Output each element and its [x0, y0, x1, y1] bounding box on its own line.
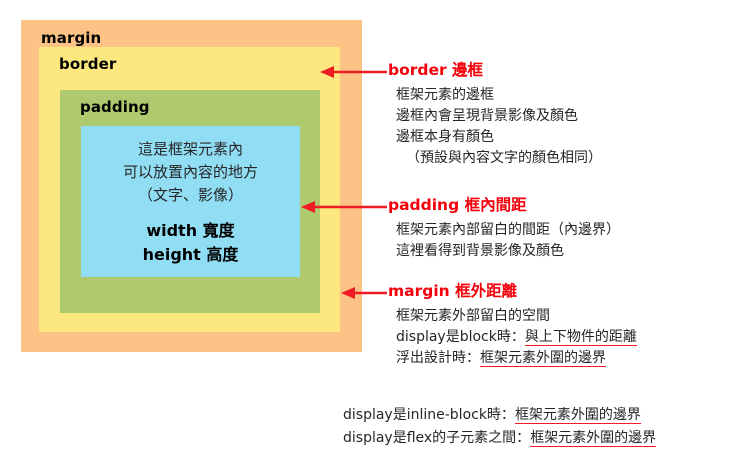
annotations-panel: border 邊框 框架元素的邊框 邊框內會呈現背景影像及顏色 邊框本身有顏色 … — [388, 0, 750, 461]
anno-line: 這裡看得到背景影像及顏色 — [396, 241, 750, 262]
anno-line: （預設與內容文字的顏色相同） — [396, 148, 750, 169]
anno-underlined: 框架元素外圍的邊界 — [530, 430, 656, 447]
border-arrow-icon — [318, 64, 388, 80]
anno-prefix: display是inline-block時： — [343, 407, 515, 423]
padding-annotation-group: padding 框內間距 框架元素內部留白的間距（內邊界） 這裡看得到背景影像及… — [388, 195, 750, 262]
anno-line: 框架元素的邊框 — [396, 85, 750, 106]
padding-annotation-body: 框架元素內部留白的間距（內邊界） 這裡看得到背景影像及顏色 — [388, 220, 750, 262]
margin-annotation-body: 框架元素外部留白的空間 display是block時：與上下物件的距離 浮出設計… — [388, 306, 750, 369]
padding-label: padding — [80, 98, 150, 116]
anno-line: display是block時：與上下物件的距離 — [396, 327, 750, 348]
margin-label: margin — [41, 29, 101, 47]
content-dimensions: width 寬度 height 高度 — [81, 219, 300, 267]
anno-underlined: 框架元素外圍的邊界 — [480, 350, 606, 367]
content-line: （文字、影像） — [81, 184, 300, 207]
padding-annotation-title: padding 框內間距 — [388, 195, 750, 215]
height-label: height 高度 — [81, 243, 300, 267]
border-annotation-body: 框架元素的邊框 邊框內會呈現背景影像及顏色 邊框本身有顏色 （預設與內容文字的顏… — [388, 85, 750, 169]
border-label: border — [59, 55, 116, 73]
anno-line: 框架元素內部留白的間距（內邊界） — [396, 220, 750, 241]
anno-line: 邊框本身有顏色 — [396, 127, 750, 148]
anno-prefix: 浮出設計時： — [396, 350, 480, 366]
margin-arrow-icon — [339, 285, 388, 301]
content-description: 這是框架元素內 可以放置內容的地方 （文字、影像） — [81, 138, 300, 207]
anno-line: 邊框內會呈現背景影像及顏色 — [396, 106, 750, 127]
margin-annotation-title: margin 框外距離 — [388, 281, 750, 301]
width-label: width 寬度 — [81, 219, 300, 243]
anno-line: display是flex的子元素之間：框架元素外圍的邊界 — [343, 427, 750, 450]
content-line: 這是框架元素內 — [81, 138, 300, 161]
anno-underlined: 框架元素外圍的邊界 — [515, 407, 641, 424]
anno-underlined: 與上下物件的距離 — [525, 329, 637, 346]
border-annotation-title: border 邊框 — [388, 60, 750, 80]
anno-line: 框架元素外部留白的空間 — [396, 306, 750, 327]
box-model-diagram: margin border padding 這是框架元素內 可以放置內容的地方 … — [21, 20, 362, 352]
anno-line: 浮出設計時：框架元素外圍的邊界 — [396, 348, 750, 369]
margin-annotation-group: margin 框外距離 框架元素外部留白的空間 display是block時：與… — [388, 281, 750, 369]
anno-prefix: display是flex的子元素之間： — [343, 430, 530, 446]
border-annotation-group: border 邊框 框架元素的邊框 邊框內會呈現背景影像及顏色 邊框本身有顏色 … — [388, 60, 750, 169]
padding-arrow-icon — [299, 199, 388, 215]
margin-annotation-extra: display是inline-block時：框架元素外圍的邊界 display是… — [343, 404, 750, 450]
content-line: 可以放置內容的地方 — [81, 161, 300, 184]
content-box-layer: 這是框架元素內 可以放置內容的地方 （文字、影像） width 寬度 heigh… — [81, 126, 300, 277]
anno-prefix: display是block時： — [396, 329, 525, 345]
anno-line: display是inline-block時：框架元素外圍的邊界 — [343, 404, 750, 427]
